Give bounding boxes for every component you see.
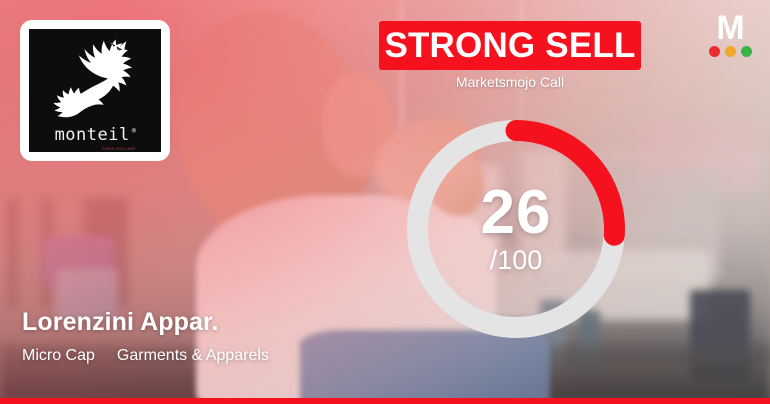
dot-green-icon	[741, 46, 752, 57]
dove-icon	[29, 37, 161, 125]
company-logo-tagline: SWISS SKIN CARE	[102, 148, 135, 151]
company-meta: Micro Cap Garments & Apparels	[22, 347, 269, 365]
call-badge: STRONG SELL	[379, 21, 641, 70]
marketsmojo-letter: M	[702, 14, 758, 43]
footer-rule	[0, 398, 770, 404]
call-sub-label: Marketsmojo Call	[379, 74, 641, 90]
dot-amber-icon	[725, 46, 736, 57]
company-logo-name: monteil	[55, 127, 130, 144]
company-sector: Garments & Apparels	[117, 347, 269, 365]
dot-red-icon	[709, 46, 720, 57]
call-badge-label: STRONG SELL	[384, 28, 635, 63]
marketsmojo-logo: M	[702, 14, 758, 57]
score-gauge: 26 /100	[407, 120, 625, 338]
company-logo-plate: monteil® SWISS SKIN CARE	[29, 29, 161, 152]
company-market-cap: Micro Cap	[22, 347, 95, 365]
registered-mark-icon: ®	[132, 128, 137, 135]
stock-call-card: monteil® SWISS SKIN CARE STRONG SELL Mar…	[0, 0, 770, 404]
company-logo-card: monteil® SWISS SKIN CARE	[20, 20, 170, 161]
marketsmojo-dots	[702, 46, 758, 57]
company-logo-wordmark: monteil® SWISS SKIN CARE	[55, 127, 136, 144]
company-name: Lorenzini Appar.	[22, 308, 219, 337]
